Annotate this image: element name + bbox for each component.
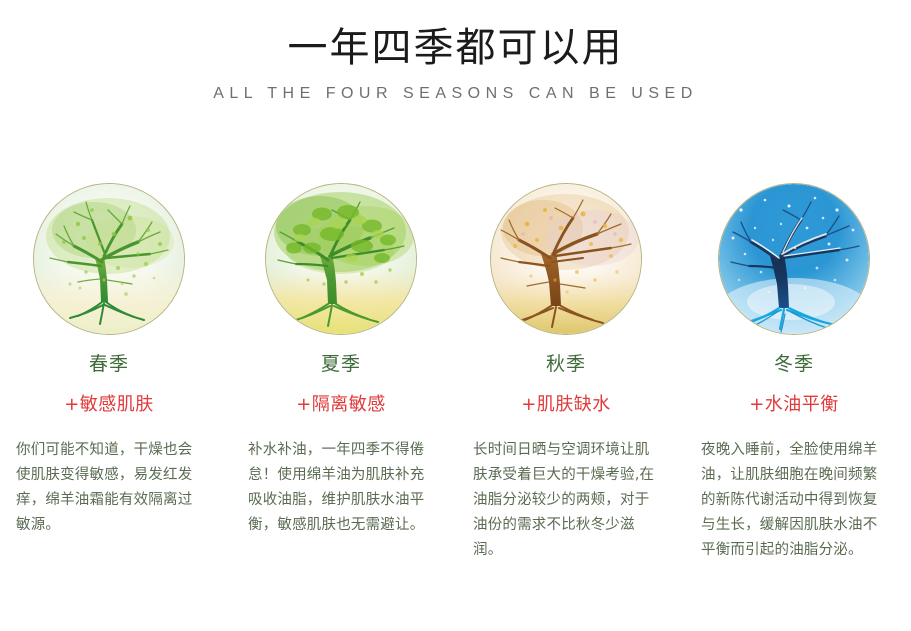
season-body-spring: 你们可能不知道，干燥也会使肌肤变得敏感，易发红发痒，绵羊油霜能有效隔离过敏源。: [16, 438, 202, 538]
winter-tree-icon: [718, 183, 870, 335]
summer-tree-icon: [265, 183, 417, 335]
spring-tree-icon: [33, 183, 185, 335]
autumn-tree-icon: [490, 183, 642, 335]
seasons-infographic: 一年四季都可以用 ALL THE FOUR SEASONS CAN BE USE…: [0, 0, 911, 631]
season-columns: 春季 +敏感肌肤 你们可能不知道，干燥也会使肌肤变得敏感，易发红发痒，绵羊油霜能…: [0, 183, 911, 563]
season-name-spring: 春季: [89, 352, 129, 376]
season-name-winter: 冬季: [774, 352, 814, 376]
page-subtitle: ALL THE FOUR SEASONS CAN BE USED: [0, 83, 911, 105]
season-column-winter: 冬季 +水油平衡 夜晚入睡前，全脸使用绵羊油，让肌肤细胞在晚间频繁的新陈代谢活动…: [694, 183, 894, 563]
season-body-summer: 补水补油，一年四季不得倦怠！使用绵羊油为肌肤补充吸收油脂，维护肌肤水油平衡，敏感…: [248, 438, 434, 538]
page-title: 一年四季都可以用: [0, 22, 911, 74]
season-tag-spring: +敏感肌肤: [64, 393, 154, 416]
season-body-autumn: 长时间日晒与空调环境让肌肤承受着巨大的干燥考验,在油脂分泌较少的两颊，对于油份的…: [473, 438, 659, 563]
season-body-winter: 夜晚入睡前，全脸使用绵羊油，让肌肤细胞在晚间频繁的新陈代谢活动中得到恢复与生长，…: [701, 438, 887, 563]
season-name-summer: 夏季: [321, 352, 361, 376]
season-name-autumn: 秋季: [546, 352, 586, 376]
season-column-autumn: 秋季 +肌肤缺水 长时间日晒与空调环境让肌肤承受着巨大的干燥考验,在油脂分泌较少…: [466, 183, 666, 563]
season-tag-summer: +隔离敏感: [296, 393, 386, 416]
season-tag-winter: +水油平衡: [749, 393, 839, 416]
season-column-summer: 夏季 +隔离敏感 补水补油，一年四季不得倦怠！使用绵羊油为肌肤补充吸收油脂，维护…: [241, 183, 441, 563]
season-column-spring: 春季 +敏感肌肤 你们可能不知道，干燥也会使肌肤变得敏感，易发红发痒，绵羊油霜能…: [9, 183, 209, 563]
header: 一年四季都可以用 ALL THE FOUR SEASONS CAN BE USE…: [0, 22, 911, 105]
season-tag-autumn: +肌肤缺水: [521, 393, 611, 416]
